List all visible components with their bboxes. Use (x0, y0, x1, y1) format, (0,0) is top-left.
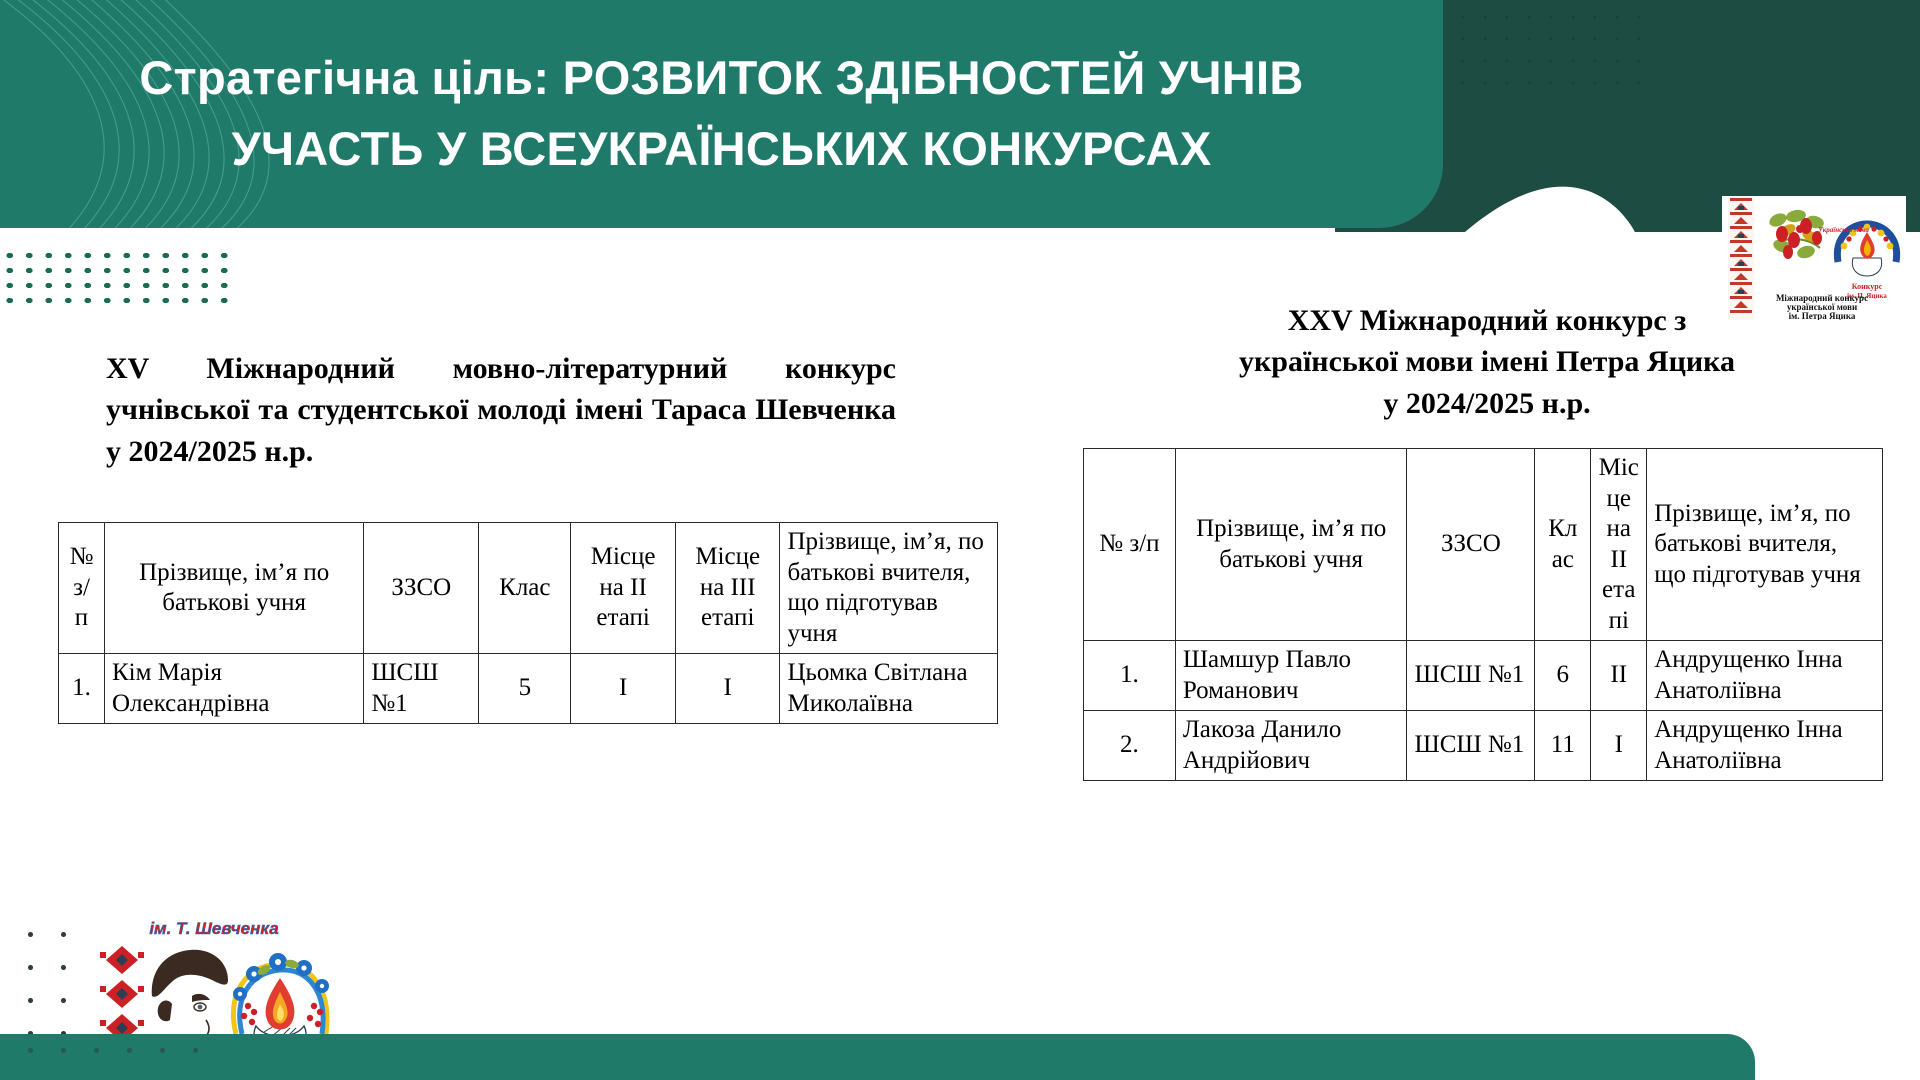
footer-dot-pattern (14, 1034, 214, 1080)
table-header-row: № з/ п Прізвище, ім’я по батькові учня З… (59, 523, 998, 654)
slide-root: Стратегічна ціль: РОЗВИТОК ЗДІБНОСТЕЙ УЧ… (0, 0, 1920, 1080)
col-header-grade: Кл ас (1535, 449, 1591, 641)
slide-footer-band (0, 1034, 1755, 1080)
yatsyk-contest-logo: Українська мова Конкурс ім. П. Яцика Між… (1722, 196, 1906, 320)
col-header-num: № з/ п (59, 523, 105, 654)
cell-school: ШСШ №1 (1407, 641, 1535, 711)
decor-dots-top-left (0, 248, 236, 306)
table-header-row: № з/п Прізвище, ім’я по батькові учня ЗЗ… (1084, 449, 1883, 641)
cell-teacher: Цьомка Світлана Миколаївна (780, 654, 998, 724)
col-header-school: ЗЗСО (1407, 449, 1535, 641)
badge-top-text: Конкурс (1852, 282, 1883, 291)
col-header-student: Прізвище, ім’я по батькові учня (105, 523, 364, 654)
cell-place-stage2: II (1591, 641, 1647, 711)
table-row: 1. Шамшур Павло Романович ШСШ №1 6 II Ан… (1084, 641, 1883, 711)
col-header-teacher: Прізвище, ім’я, по батькові вчителя, що … (1647, 449, 1883, 641)
cell-student: Шамшур Павло Романович (1175, 641, 1407, 711)
col-header-grade: Клас (479, 523, 571, 654)
table-row: 1. Кім Марія Олександрівна ШСШ №1 5 I I … (59, 654, 998, 724)
cell-num: 1. (1084, 641, 1176, 711)
cell-school: ШСШ №1 (1407, 711, 1535, 781)
yatsyk-caption-3: ім. Петра Яцика (1789, 311, 1856, 320)
col-header-student: Прізвище, ім’я по батькові учня (1175, 449, 1407, 641)
cell-grade: 5 (479, 654, 571, 724)
cell-place-stage3: I (675, 654, 780, 724)
col-header-place-stage3: Місце на ІІІ етапі (675, 523, 780, 654)
ribbon-text: Українська мова (1818, 226, 1869, 234)
col-header-num: № з/п (1084, 449, 1176, 641)
page-title: Стратегічна ціль: РОЗВИТОК ЗДІБНОСТЕЙ УЧ… (0, 0, 1443, 228)
cell-grade: 11 (1535, 711, 1591, 781)
cell-teacher: Андрущенко Інна Анатоліївна (1647, 641, 1883, 711)
left-section-heading: XV Міжнародний мовно-літературний конкур… (106, 348, 896, 472)
cell-place-stage2: I (1591, 711, 1647, 781)
title-line-2: УЧАСТЬ У ВСЕУКРАЇНСЬКИХ КОНКУРСАХ (231, 116, 1211, 183)
cell-num: 2. (1084, 711, 1176, 781)
col-header-school: ЗЗСО (364, 523, 479, 654)
col-header-place-stage2: Міс це на ІІ ета пі (1591, 449, 1647, 641)
cell-teacher: Андрущенко Інна Анатоліївна (1647, 711, 1883, 781)
header-dot-pattern (1452, 6, 1652, 98)
cell-school: ШСШ №1 (364, 654, 479, 724)
yatsyk-results-table: № з/п Прізвище, ім’я по батькові учня ЗЗ… (1083, 448, 1883, 781)
cell-place-stage2: I (571, 654, 676, 724)
col-header-place-stage2: Місце на ІІ етапі (571, 523, 676, 654)
shevchenko-top-text: ім. Т. Шевченка (149, 919, 278, 938)
cell-student: Лакоза Данило Андрійович (1175, 711, 1407, 781)
cell-grade: 6 (1535, 641, 1591, 711)
embroidery-pattern-icon (100, 946, 144, 1042)
yatsyk-logo-icon: Українська мова Конкурс ім. П. Яцика Між… (1722, 196, 1906, 320)
col-header-teacher: Прізвище, ім’я, по батькові вчителя, що … (780, 523, 998, 654)
right-section-heading: XXV Міжнародний конкурс з української мо… (1232, 300, 1742, 424)
title-line-1: Стратегічна ціль: РОЗВИТОК ЗДІБНОСТЕЙ УЧ… (139, 45, 1303, 112)
shevchenko-results-table: № з/ п Прізвище, ім’я по батькові учня З… (58, 522, 998, 724)
cell-num: 1. (59, 654, 105, 724)
table-row: 2. Лакоза Данило Андрійович ШСШ №1 11 I … (1084, 711, 1883, 781)
slide-header: Стратегічна ціль: РОЗВИТОК ЗДІБНОСТЕЙ УЧ… (0, 0, 1920, 232)
cell-student: Кім Марія Олександрівна (105, 654, 364, 724)
